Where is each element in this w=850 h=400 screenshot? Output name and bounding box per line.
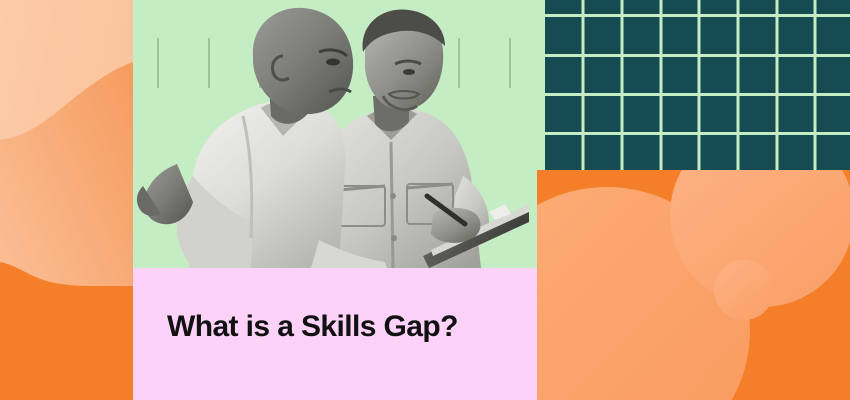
two-workers-illustration [133, 0, 529, 268]
front-man-eye [326, 59, 340, 66]
back-man-moustache [389, 91, 419, 99]
left-decoration-panel [0, 0, 133, 400]
pen-hand [431, 208, 481, 243]
title-panel: What is a Skills Gap? [133, 268, 529, 400]
peach-wave-graphic [0, 0, 133, 400]
shirt-button-1 [390, 193, 396, 199]
grid-panel [537, 0, 850, 170]
green-sliver [529, 0, 537, 268]
orange-panel [537, 170, 850, 400]
promo-card: What is a Skills Gap? [0, 0, 850, 400]
shirt-button-2 [391, 235, 397, 241]
page-title: What is a Skills Gap? [167, 310, 458, 344]
pink-sliver [529, 268, 537, 400]
back-man-placket [391, 142, 393, 268]
teal-grid-graphic [537, 0, 850, 170]
photo-panel [133, 0, 529, 268]
two-workers-photo [133, 0, 529, 268]
back-man-eye [403, 69, 415, 75]
circle-small-center [714, 260, 774, 320]
orange-circles-graphic [537, 170, 850, 400]
